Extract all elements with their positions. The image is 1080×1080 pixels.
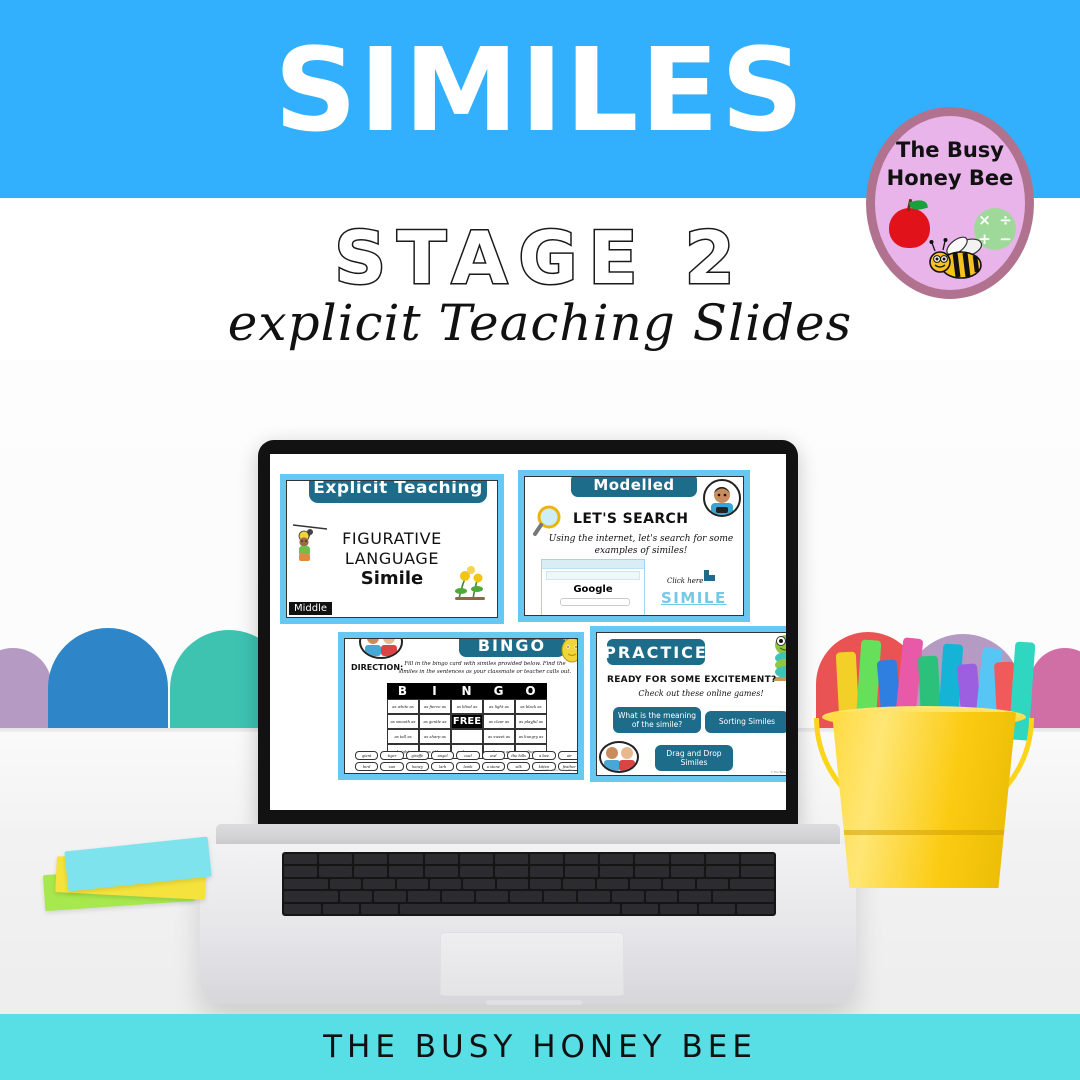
bingo-header-row: BINGO — [387, 683, 547, 699]
slide-modelled[interactable]: Modelled — [518, 470, 750, 622]
slide-pill: PRACTICE — [607, 639, 705, 665]
bingo-cell[interactable]: as black as — [515, 699, 547, 714]
word-tile[interactable]: a stone — [482, 762, 505, 771]
slide-pill: BINGO — [459, 638, 565, 657]
pineapple-icon — [557, 638, 578, 663]
bingo-cell[interactable]: as clear as — [483, 714, 515, 729]
yellow-bucket — [826, 712, 1022, 888]
bingo-cell[interactable]: as gentle as — [419, 714, 451, 729]
browser-screenshot: Google — [541, 559, 645, 616]
multiply-symbol: × — [974, 209, 995, 230]
word-tile[interactable]: lark — [431, 762, 454, 771]
laptop-keyboard[interactable] — [282, 852, 776, 916]
game-button-sorting[interactable]: Sorting Similes — [705, 711, 786, 733]
bingo-cell[interactable]: as sharp as — [419, 729, 451, 744]
footer-banner: THE BUSY HONEY BEE — [0, 1014, 1080, 1080]
click-here-label: Click here — [667, 577, 703, 585]
direction-text: Fill in the bingo card with similes prov… — [397, 661, 573, 677]
bee-icon — [927, 234, 989, 282]
slide-body-text: Using the internet, let's search for som… — [535, 533, 744, 557]
word-tile[interactable]: the hills — [507, 751, 530, 760]
down-left-arrow-icon — [701, 561, 725, 585]
game-button-meaning[interactable]: What is the meaning of the simile? — [613, 707, 701, 733]
poster-canvas: SIMILES STAGE 2 explicit Teaching Slides… — [0, 0, 1080, 1080]
logo-line-2: Honey Bee — [875, 164, 1025, 192]
slide-body: Explicit Teaching FIGURATIVE LANGUAGE Si… — [286, 480, 498, 618]
word-tile[interactable]: silk — [507, 762, 530, 771]
keyboard-row — [284, 854, 774, 864]
background-arch — [48, 628, 168, 736]
bingo-cell[interactable]: as hungry as — [515, 729, 547, 744]
direction-label: DIRECTION: — [351, 663, 403, 672]
slide-credit: © The Busy Honey Bee — [771, 770, 786, 774]
fig-line-1: FIGURATIVE — [287, 529, 497, 549]
pen-holder — [820, 638, 1032, 938]
browser-urlbar — [546, 571, 640, 580]
brand-logo-badge: The Busy Honey Bee × ÷ + − — [866, 107, 1034, 299]
word-tile[interactable]: giant — [355, 751, 378, 760]
keyboard-row — [284, 866, 774, 876]
bingo-column-header: N — [451, 683, 483, 699]
bingo-column-header: I — [419, 683, 451, 699]
bingo-cell[interactable]: as fierce as — [419, 699, 451, 714]
avatar-i-do-icon — [703, 479, 741, 517]
bingo-cell[interactable] — [451, 729, 483, 744]
keyboard-row — [284, 904, 774, 914]
slide-explicit-teaching[interactable]: Explicit Teaching FIGURATIVE LANGUAGE Si… — [280, 474, 504, 624]
avatar-we-do-icon — [359, 638, 403, 659]
bingo-column-header: B — [387, 683, 419, 699]
sticky-note-stack — [40, 834, 220, 914]
bingo-cell[interactable]: as blind as — [451, 699, 483, 714]
laptop: Explicit Teaching FIGURATIVE LANGUAGE Si… — [196, 440, 896, 1000]
word-tile[interactable]: tiger — [380, 751, 403, 760]
word-tile[interactable]: giraffe — [406, 751, 429, 760]
word-tile[interactable]: air — [558, 751, 578, 760]
bingo-column-header: G — [483, 683, 515, 699]
subtitle: explicit Teaching Slides — [0, 297, 1080, 350]
google-logo: Google — [542, 584, 644, 595]
slide-practice[interactable]: PRACTICE — [590, 626, 786, 782]
bucket-band — [840, 830, 1022, 835]
word-tile[interactable]: lamb — [456, 762, 479, 771]
flower-icon — [449, 565, 491, 601]
game-button-drag-drop[interactable]: Drag and Drop Similes — [655, 745, 733, 771]
bingo-cell[interactable]: as tall as — [387, 729, 419, 744]
bingo-card: BINGO as white asas fierce asas blind as… — [387, 683, 547, 759]
bingo-cell[interactable]: as smooth as — [387, 714, 419, 729]
bingo-cells: as white asas fierce asas blind asas lig… — [387, 699, 547, 759]
keyboard-row — [284, 879, 774, 889]
word-tile[interactable]: coal — [456, 751, 479, 760]
slide-bingo[interactable]: BINGO DIRECTION: Fill i — [338, 632, 584, 780]
slide-body: Modelled — [524, 476, 744, 616]
bingo-cell[interactable]: as white as — [387, 699, 419, 714]
avatar-we-do-icon — [599, 741, 639, 773]
word-bank-row-1: gianttigergiraffeangelcoalowlthe hillsa … — [355, 751, 578, 760]
laptop-trackpad[interactable] — [440, 932, 624, 996]
slide-heading: READY FOR SOME EXCITEMENT? — [607, 675, 777, 685]
background-arch — [1030, 648, 1080, 736]
keyboard-row — [284, 891, 774, 901]
slide-body: PRACTICE — [596, 632, 786, 776]
laptop-screen: Explicit Teaching FIGURATIVE LANGUAGE Si… — [270, 454, 786, 810]
word-tile[interactable]: owl — [482, 751, 505, 760]
word-tile[interactable]: honey — [406, 762, 429, 771]
background-arch — [0, 648, 52, 736]
logo-text: The Busy Honey Bee — [875, 136, 1025, 193]
minus-symbol: − — [995, 228, 1016, 249]
footer-text: THE BUSY HONEY BEE — [323, 1029, 757, 1065]
bingo-free-cell[interactable]: FREE — [451, 714, 483, 729]
slide-heading: LET'S SEARCH — [573, 511, 688, 527]
browser-tabbar — [542, 560, 644, 569]
laptop-lid: Explicit Teaching FIGURATIVE LANGUAGE Si… — [258, 440, 798, 830]
divide-symbol: ÷ — [995, 209, 1016, 230]
desk-photo-scene: Explicit Teaching FIGURATIVE LANGUAGE Si… — [0, 360, 1080, 1032]
word-tile[interactable]: a bee — [532, 751, 555, 760]
slide-pill: Explicit Teaching — [309, 480, 487, 503]
google-search-box — [560, 598, 630, 606]
word-tile[interactable]: angel — [431, 751, 454, 760]
bingo-cell[interactable]: as playful as — [515, 714, 547, 729]
apple-icon — [889, 208, 930, 248]
slide-body: BINGO DIRECTION: Fill i — [344, 638, 578, 774]
logo-line-1: The Busy — [875, 136, 1025, 164]
slide-subheading: Check out these online games! — [597, 689, 786, 698]
bingo-column-header: O — [515, 683, 547, 699]
laptop-front-notch — [486, 1000, 582, 1005]
slide-credit: © The Busy Honey Bee — [543, 768, 574, 772]
slide-tag: Middle — [289, 602, 332, 615]
word-tile[interactable]: sun — [380, 762, 403, 771]
simile-link[interactable]: SIMILE — [661, 589, 727, 607]
slide-pill: Modelled — [571, 476, 697, 497]
bingo-cell[interactable]: as light as — [483, 699, 515, 714]
word-tile[interactable]: bird — [355, 762, 378, 771]
bingo-cell[interactable]: as sweet as — [483, 729, 515, 744]
